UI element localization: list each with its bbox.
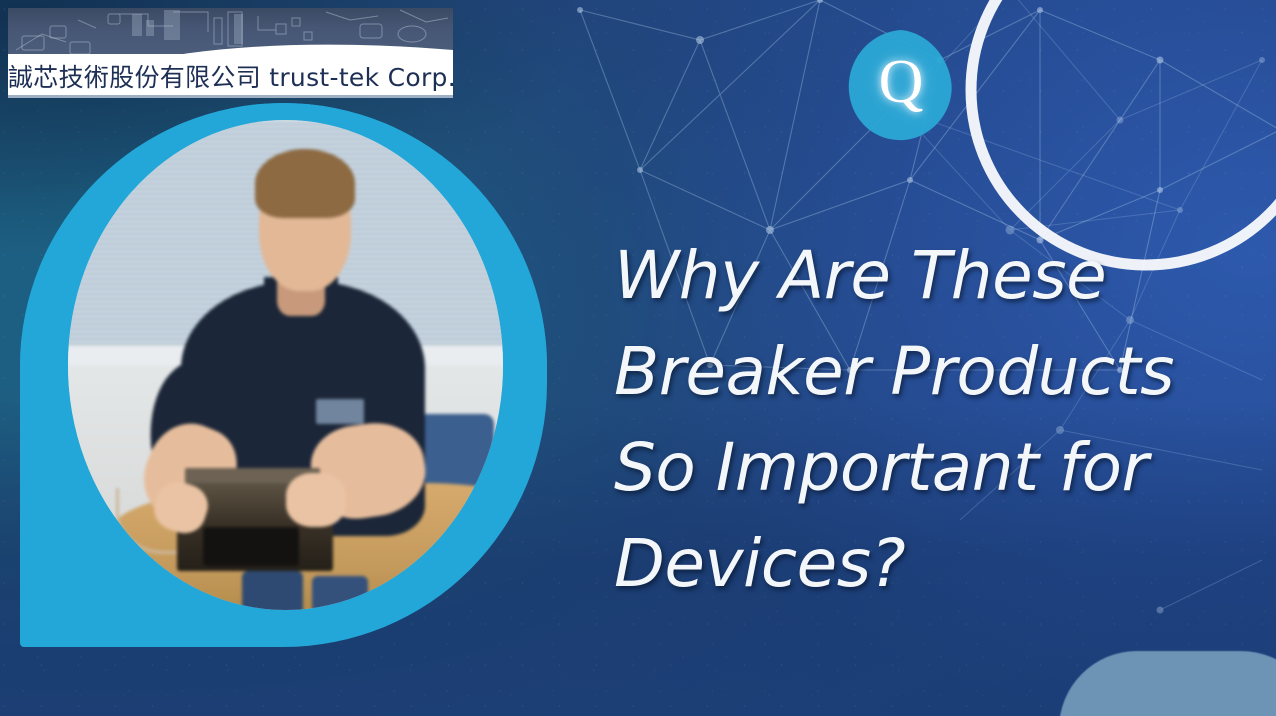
circular-photo bbox=[68, 120, 503, 610]
company-watermark-banner: 誠芯技術股份有限公司 trust-tek Corp. bbox=[8, 8, 453, 98]
brand-logo-letter: Q bbox=[846, 26, 956, 144]
breaker-device-base bbox=[203, 527, 299, 566]
headline-line-2: Breaker Products bbox=[614, 324, 1254, 420]
headline-line-4: Devices? bbox=[614, 516, 1254, 612]
company-name-text: 誠芯技術股份有限公司 trust-tek Corp. bbox=[8, 58, 445, 94]
circuit-traces-icon bbox=[8, 8, 453, 54]
brand-logo: Q bbox=[846, 26, 956, 144]
headline-line-3: So Important for bbox=[614, 420, 1254, 516]
person-hand-right bbox=[286, 473, 347, 527]
denim-cloth-right bbox=[312, 576, 369, 610]
headline-line-1: Why Are These bbox=[614, 228, 1254, 324]
banner-underline bbox=[8, 95, 453, 98]
video-frame: Q Why Are These Breaker Products So Impo… bbox=[0, 0, 1276, 716]
person-hair bbox=[255, 149, 355, 218]
shirt-logo-patch bbox=[316, 399, 364, 424]
photo-scene bbox=[68, 120, 503, 610]
circuit-pattern-strip bbox=[8, 8, 453, 54]
headline: Why Are These Breaker Products So Import… bbox=[614, 228, 1254, 612]
denim-cloth-left bbox=[242, 571, 303, 610]
